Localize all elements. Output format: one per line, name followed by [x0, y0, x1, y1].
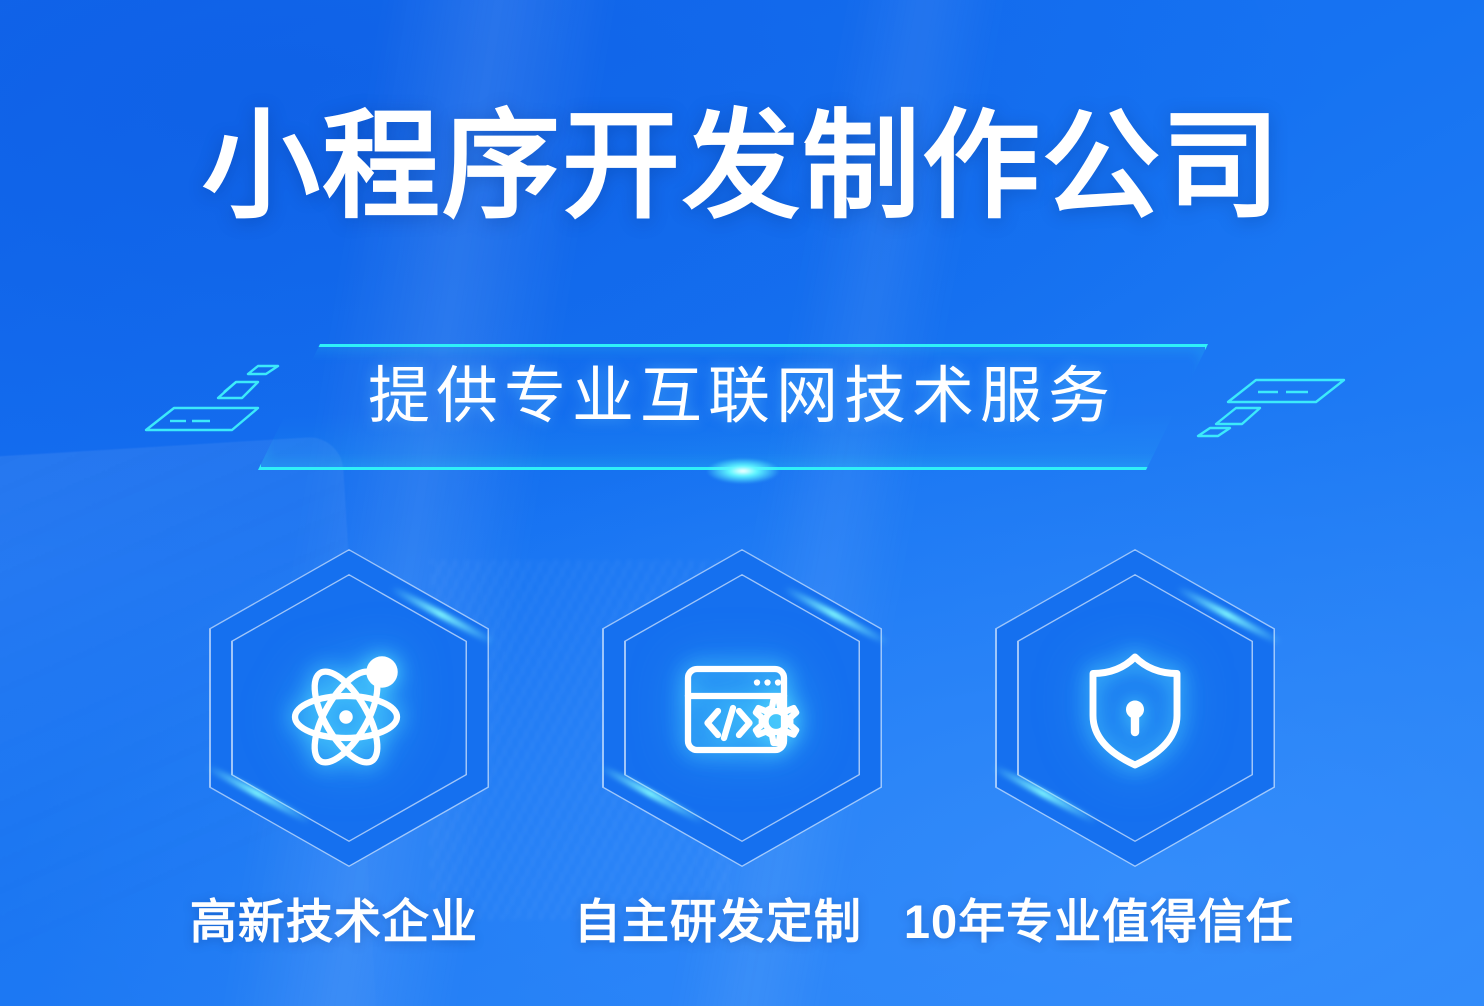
promo-banner: 小程序开发制作公司 提供专业互联网技术服务	[0, 0, 1484, 1006]
feature-card-3	[976, 548, 1294, 868]
code-window-gear-icon	[667, 633, 817, 783]
subtitle-text: 提供专业互联网技术服务	[0, 366, 1484, 428]
feature-label-3: 10年专业值得信任	[904, 898, 1294, 945]
subtitle-glow-spark-icon	[706, 458, 780, 484]
page-title: 小程序开发制作公司	[0, 108, 1484, 226]
atom-icon	[274, 633, 424, 783]
subtitle-banner: 提供专业互联网技术服务	[0, 336, 1484, 482]
feature-label-1: 高新技术企业	[190, 898, 478, 945]
feature-label-2: 自主研发定制	[574, 898, 862, 945]
feature-card-1	[190, 548, 508, 868]
feature-card-2	[583, 548, 901, 868]
shield-lock-icon	[1060, 633, 1210, 783]
feature-label-row: 高新技术企业 自主研发定制 10年专业值得信任	[0, 886, 1484, 956]
feature-icon-row	[0, 548, 1484, 868]
